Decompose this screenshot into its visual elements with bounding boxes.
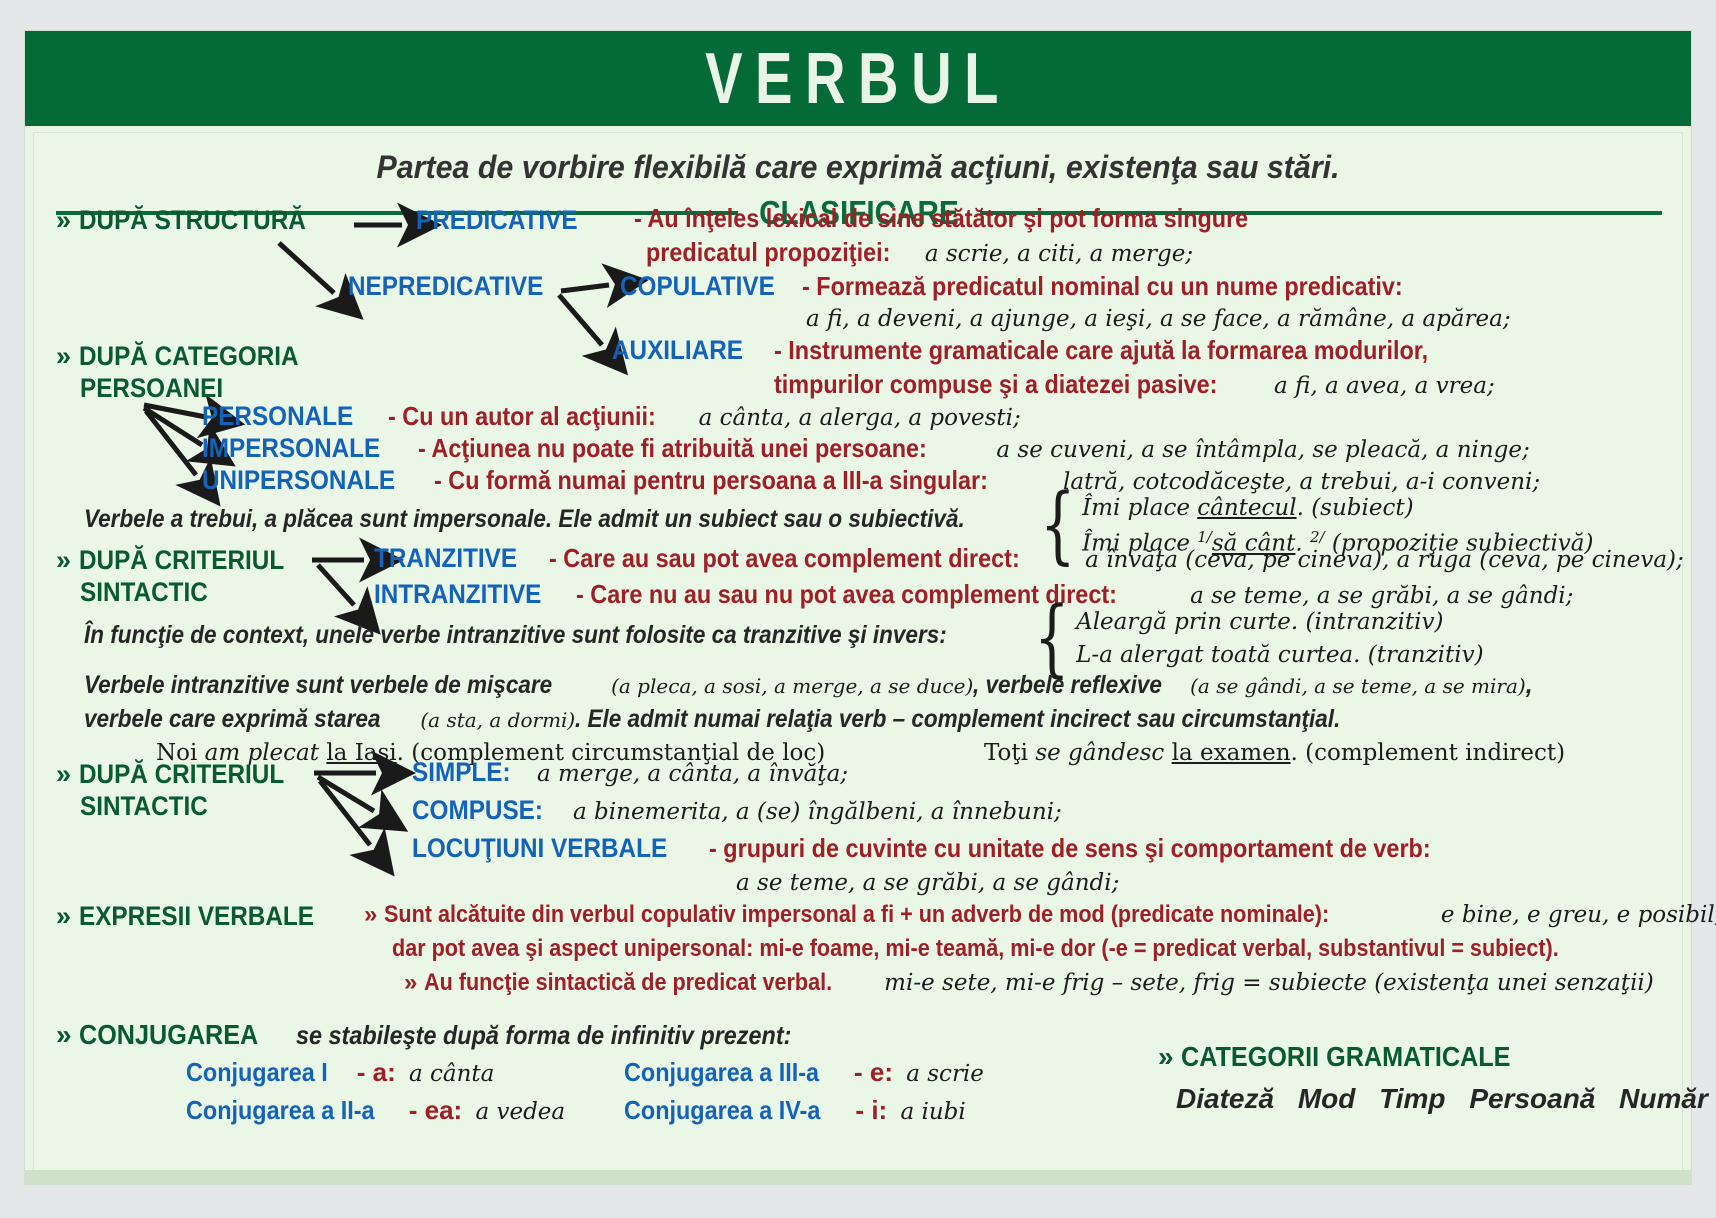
- def-tranzitive-text: - Care au sau pot avea complement direct…: [549, 543, 1020, 574]
- term-unipersonale: UNIPERSONALE - Cu formă numai pentru per…: [202, 465, 1540, 496]
- example-right-c: . (complement indirect): [1291, 740, 1566, 766]
- examples-impersonale: a se cuveni, a se întâmpla, se pleacă, a…: [996, 437, 1529, 463]
- term-predicative-label: PREDICATIVE: [416, 205, 578, 236]
- expresii-line3-text: Au funcţie sintactică de predicat verbal…: [424, 969, 832, 997]
- def-auxiliare-line1: - Instrumente gramaticale care ajută la …: [774, 335, 1501, 366]
- bullet-icon: »: [56, 545, 71, 575]
- term-predicative: PREDICATIVE: [416, 205, 596, 236]
- term-auxiliare: AUXILIARE: [612, 335, 758, 366]
- def-personale-text: - Cu un autor al acţiunii:: [388, 401, 656, 432]
- criterion-forma-heading2: SINTACTIC: [80, 791, 222, 822]
- conjugare-1-example: a cânta: [409, 1061, 494, 1087]
- categorie-timp: Timp: [1379, 1083, 1445, 1114]
- poster-subtitle: Partea de vorbire flexibilă care exprimă…: [75, 149, 1641, 186]
- conjugare-2-example: a vedea: [475, 1099, 565, 1125]
- bullet-icon: »: [1158, 1041, 1174, 1072]
- brace-line1-b: . (subiect): [1297, 495, 1414, 521]
- bullet-icon: »: [56, 205, 71, 235]
- conjugare-3-ending: e:: [870, 1057, 893, 1087]
- term-unipersonale-label: UNIPERSONALE: [202, 465, 395, 496]
- criterion-forma-heading: » DUPĂ CRITERIUL: [56, 759, 307, 790]
- expresii-line2-text: dar pot avea şi aspect unipersonal: mi-e…: [392, 935, 1559, 963]
- term-impersonale: IMPERSONALE - Acţiunea nu poate fi atrib…: [202, 433, 1530, 464]
- criterion-forma-label1: DUPĂ CRITERIUL: [79, 759, 284, 790]
- conjugare-2-dash: -: [409, 1095, 418, 1125]
- def-predicative-text2: predicatul propoziţiei:: [646, 237, 890, 268]
- criterion-persoana-label1: DUPĂ CATEGORIA: [79, 341, 299, 372]
- example-right-b: se gândesc: [1035, 740, 1171, 766]
- conjugare-item-3: Conjugarea a III-a - e: a scrie: [624, 1057, 984, 1088]
- conjugare-item-4: Conjugarea a IV-a - i: a iubi: [624, 1095, 966, 1126]
- expresii-line3-examples: mi-e sete, mi-e frig – sete, frig = subi…: [884, 970, 1654, 996]
- criterion-persoana-heading2: PERSOANEI: [80, 373, 239, 404]
- conjugare-1-name: Conjugarea I: [186, 1057, 328, 1088]
- categorii-heading-label: CATEGORII GRAMATICALE: [1181, 1041, 1510, 1073]
- expresii-heading-label: EXPRESII VERBALE: [79, 901, 314, 932]
- term-personale-label: PERSONALE: [202, 401, 353, 432]
- criterion-tranzitiv-label1: DUPĂ CRITERIUL: [79, 545, 284, 576]
- sub-bullet-icon: »: [404, 969, 417, 996]
- term-compuse-label: COMPUSE:: [412, 795, 543, 826]
- examples-intranzitive: a se teme, a se grăbi, a se gândi;: [1190, 583, 1573, 609]
- def-copulative: - Formează predicatul nominal cu un nume…: [802, 271, 1469, 302]
- brace-icon: {: [1034, 609, 1070, 668]
- conjugare-2-name: Conjugarea a II-a: [186, 1095, 375, 1126]
- expresii-line1-examples: e bine, e greu, e posibil;: [1441, 902, 1716, 928]
- note-context-brace-group: { Aleargă prin curte. (intranzitiv) L-a …: [1034, 609, 1484, 668]
- criterion-persoana-heading: » DUPĂ CATEGORIA: [56, 341, 323, 372]
- def-unipersonale-text: - Cu formă numai pentru persoana a III-a…: [434, 465, 988, 496]
- note-impersonale-text: Verbele a trebui, a plăcea sunt imperson…: [84, 505, 965, 534]
- expresii-line1-text: Sunt alcătuite din verbul copulativ impe…: [384, 901, 1329, 929]
- brace-line-1: Îmi place cântecul. (subiect): [1082, 495, 1593, 521]
- brace-context-line1: Aleargă prin curte. (intranzitiv): [1076, 609, 1483, 635]
- poster-footer-bar: [25, 1170, 1691, 1184]
- sub-bullet-icon: »: [364, 901, 377, 928]
- term-locutiuni-label: LOCUŢIUNI VERBALE: [412, 833, 667, 864]
- term-nepredicative: NEPREDICATIVE: [348, 271, 565, 302]
- note-intranzitive-part4: . Ele admit numai relaţia verb – complem…: [575, 705, 1340, 734]
- expresii-heading: » EXPRESII VERBALE: [56, 901, 340, 932]
- example-sentence-right: Toţi se gândesc la examen. (complement i…: [984, 739, 1565, 766]
- criterion-structura-label: DUPĂ STRUCTURĂ: [79, 205, 306, 236]
- conjugare-3-name: Conjugarea a III-a: [624, 1057, 819, 1088]
- term-locutiuni: LOCUŢIUNI VERBALE - grupuri de cuvinte c…: [412, 833, 1511, 864]
- bullet-icon: »: [56, 759, 71, 789]
- examples-locutiuni: a se teme, a se grăbi, a se gândi;: [736, 870, 1119, 896]
- page-title: VERBUL: [705, 38, 1011, 120]
- criterion-tranzitiv-heading: » DUPĂ CRITERIUL: [56, 545, 307, 576]
- categorie-numar: Număr: [1619, 1083, 1708, 1114]
- note-intranzitive-part2-ex: (a se gândi, a se teme, a se mira): [1190, 674, 1526, 698]
- note-intranzitive-part2-tail: ,: [1526, 671, 1533, 699]
- brace-context-line2: L-a alergat toată curtea. (tranzitiv): [1076, 642, 1483, 668]
- term-auxiliare-label: AUXILIARE: [612, 335, 743, 366]
- examples-copulative-row: a fi, a deveni, a ajunge, a ieşi, a se f…: [806, 305, 1511, 332]
- criterion-tranzitiv-label2: SINTACTIC: [80, 577, 208, 608]
- examples-simple: a merge, a cânta, a învăţa;: [537, 761, 848, 787]
- examples-copulative: a fi, a deveni, a ajunge, a ieşi, a se f…: [806, 306, 1511, 332]
- conjugare-3-example: a scrie: [906, 1061, 984, 1087]
- def-auxiliare-text2: timpurilor compuse şi a diatezei pasive:: [774, 369, 1217, 400]
- note-intranzitive-part1: Verbele intranzitive sunt verbele de miş…: [84, 671, 552, 700]
- examples-predicative: a scrie, a citi, a merge;: [925, 241, 1193, 267]
- examples-unipersonale: latră, cotcodăceşte, a trebui, a-i conve…: [1063, 469, 1540, 495]
- categorie-diateza: Diateză: [1176, 1083, 1274, 1114]
- bullet-icon: »: [56, 1019, 72, 1050]
- poster-title-bar: VERBUL: [25, 31, 1691, 126]
- note-impersonale: Verbele a trebui, a plăcea sunt imperson…: [84, 505, 1063, 534]
- term-personale: PERSONALE - Cu un autor al acţiunii: a c…: [202, 401, 1021, 432]
- example-left-underlined: la Iaşi: [326, 740, 396, 766]
- poster: VERBUL: [24, 30, 1692, 1185]
- categorie-mod: Mod: [1298, 1083, 1356, 1114]
- def-locutiuni-text: - grupuri de cuvinte cu unitate de sens …: [709, 833, 1431, 864]
- note-intranzitive-part2: , verbele reflexive: [973, 671, 1162, 700]
- conjugare-1-ending: a:: [373, 1057, 396, 1087]
- note-intranzitive-line2: verbele care exprimă starea (a sta, a do…: [84, 705, 1426, 734]
- conjugare-item-1: Conjugarea I - a: a cânta: [186, 1057, 494, 1088]
- conjugare-4-name: Conjugarea a IV-a: [624, 1095, 820, 1126]
- conjugare-1-dash: -: [357, 1057, 366, 1087]
- examples-personale: a cânta, a alerga, a povesti;: [699, 405, 1021, 431]
- brace-line1-underlined: cântecul: [1197, 495, 1296, 521]
- note-context: În funcţie de context, unele verbe intra…: [84, 621, 1043, 650]
- expresii-line1: » Sunt alcătuite din verbul copulativ im…: [364, 901, 1716, 929]
- term-intranzitive-label: INTRANZITIVE: [374, 579, 541, 610]
- bullet-icon: »: [56, 901, 71, 931]
- brace-line1-a: Îmi place: [1082, 495, 1197, 521]
- def-copulative-text: - Formează predicatul nominal cu un nume…: [802, 271, 1403, 302]
- term-tranzitive-label: TRANZITIVE: [374, 543, 517, 574]
- conjugarea-heading: » CONJUGAREA se stabileşte după forma de…: [56, 1019, 847, 1051]
- term-impersonale-label: IMPERSONALE: [202, 433, 380, 464]
- examples-tranzitive: a învăţa (ceva, pe cineva), a ruga (ceva…: [1085, 547, 1684, 573]
- note-intranzitive-part3: verbele care exprimă starea: [84, 705, 380, 734]
- criterion-forma-label2: SINTACTIC: [80, 791, 208, 822]
- conjugare-2-ending: ea:: [425, 1095, 463, 1125]
- criterion-structura-heading: » DUPĂ STRUCTURĂ: [56, 205, 331, 236]
- expresii-line3: » Au funcţie sintactică de predicat verb…: [404, 969, 1654, 997]
- criterion-tranzitiv-heading2: SINTACTIC: [80, 577, 222, 608]
- term-copulative: COPULATIVE: [620, 271, 792, 302]
- example-right-underlined: la examen: [1172, 740, 1291, 766]
- conjugare-item-2: Conjugarea a II-a - ea: a vedea: [186, 1095, 565, 1126]
- conjugarea-subtitle: se stabileşte după forma de infinitiv pr…: [296, 1020, 791, 1051]
- conjugare-3-dash: -: [854, 1057, 863, 1087]
- term-copulative-label: COPULATIVE: [620, 271, 775, 302]
- term-nepredicative-label: NEPREDICATIVE: [348, 271, 543, 302]
- term-simple: SIMPLE: a merge, a cânta, a învăţa;: [412, 757, 848, 788]
- def-impersonale-text: - Acţiunea nu poate fi atribuită unei pe…: [418, 433, 927, 464]
- examples-locutiuni-row: a se teme, a se grăbi, a se gândi;: [736, 869, 1119, 896]
- categorii-heading: » CATEGORII GRAMATICALE: [1158, 1041, 1547, 1073]
- criterion-persoana-label2: PERSOANEI: [80, 373, 223, 404]
- note-context-text: În funcţie de context, unele verbe intra…: [84, 621, 947, 650]
- examples-compuse: a binemerita, a (se) îngălbeni, a înnebu…: [573, 799, 1062, 825]
- def-predicative-line2: predicatul propoziţiei: a scrie, a citi,…: [646, 237, 1193, 268]
- def-auxiliare-text1: - Instrumente gramaticale care ajută la …: [774, 335, 1428, 366]
- bullet-icon: »: [56, 341, 71, 371]
- note-intranzitive-part1-ex: (a pleca, a sosi, a merge, a se duce): [611, 674, 973, 698]
- examples-auxiliare: a fi, a avea, a vrea;: [1274, 373, 1495, 399]
- def-auxiliare-line2: timpurilor compuse şi a diatezei pasive:…: [774, 369, 1495, 400]
- conjugare-4-ending: i:: [871, 1095, 887, 1125]
- term-intranzitive: INTRANZITIVE - Care nu au sau nu pot ave…: [374, 579, 1573, 610]
- example-right-a: Toţi: [984, 740, 1035, 766]
- conjugare-4-example: a iubi: [900, 1099, 965, 1125]
- poster-body: Partea de vorbire flexibilă care exprimă…: [33, 132, 1683, 1180]
- term-compuse: COMPUSE: a binemerita, a (se) îngălbeni,…: [412, 795, 1062, 826]
- conjugarea-heading-label: CONJUGAREA: [79, 1019, 258, 1051]
- note-intranzitive-part3-ex: (a sta, a dormi): [420, 708, 575, 732]
- term-simple-label: SIMPLE:: [412, 757, 511, 788]
- conjugare-4-dash: -: [855, 1095, 864, 1125]
- note-intranzitive-line1: Verbele intranzitive sunt verbele de miş…: [84, 671, 1533, 700]
- categorie-persoana: Persoană: [1469, 1083, 1595, 1114]
- term-tranzitive: TRANZITIVE - Care au sau pot avea comple…: [374, 543, 1684, 574]
- def-predicative-line1: - Au înţeles lexical de sine stătător şi…: [634, 203, 1316, 234]
- def-predicative-text1: - Au înţeles lexical de sine stătător şi…: [634, 203, 1248, 234]
- expresii-line2: dar pot avea şi aspect unipersonal: mi-e…: [392, 935, 1688, 963]
- categorii-list: Diateză Mod Timp Persoană Număr: [1176, 1083, 1708, 1115]
